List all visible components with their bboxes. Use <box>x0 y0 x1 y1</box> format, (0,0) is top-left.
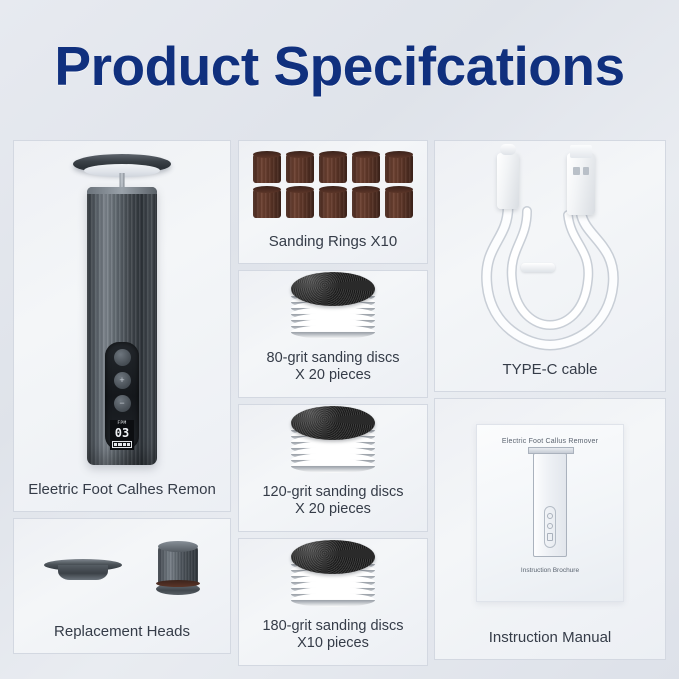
column-middle: Sanding Rings X10 80-grit sanding discs … <box>238 140 434 672</box>
sanding-ring-icon <box>385 189 413 218</box>
sanding-rings-group <box>239 154 427 218</box>
panel-replacement-heads-caption: Replacement Heads <box>14 621 230 653</box>
panel-device[interactable]: + − FPM 03 Eleetric Foot Calhes Remon <box>13 140 231 512</box>
panel-manual[interactable]: Electric Foot Callus Remover Instruction… <box>434 398 666 660</box>
panel-discs-120-caption: 120-grit sanding discs X 20 pieces <box>239 482 427 531</box>
decrease-button-icon: − <box>114 395 131 412</box>
sanding-disc-stack-icon <box>285 272 381 346</box>
panel-replacement-heads[interactable]: Replacement Heads <box>13 518 231 654</box>
device-body: + − FPM 03 <box>87 187 157 465</box>
battery-indicator-icon <box>112 441 132 448</box>
usb-a-connector-icon <box>567 153 595 215</box>
panel-device-caption: Eleetric Foot Calhes Remon <box>14 479 230 511</box>
power-button-icon <box>114 349 131 366</box>
booklet-cover-footer: Instruction Brochure <box>521 567 579 574</box>
cable-illustration <box>435 141 665 359</box>
booklet-control-panel-icon <box>544 506 556 548</box>
sanding-rings-illustration <box>239 141 427 231</box>
sanding-ring-icon <box>286 189 314 218</box>
panel-cable[interactable]: TYPE-C cable <box>434 140 666 392</box>
usb-c-connector-icon <box>497 153 519 209</box>
replacement-heads-illustration <box>14 519 230 621</box>
sanding-ring-icon <box>286 154 314 183</box>
panel-cable-caption: TYPE-C cable <box>435 359 665 391</box>
foot-callus-remover-device: + − FPM 03 <box>47 150 197 470</box>
specs-grid: + − FPM 03 Eleetric Foot Calhes Remon <box>13 140 666 660</box>
sanding-disc-stack-icon <box>285 406 381 480</box>
sanding-ring-icon <box>385 154 413 183</box>
panel-manual-caption: Instruction Manual <box>435 627 665 659</box>
column-left: + − FPM 03 Eleetric Foot Calhes Remon <box>13 140 238 672</box>
discs-120-line2: X 20 pieces <box>243 501 423 519</box>
sanding-ring-icon <box>253 154 281 183</box>
sanding-disc-stack-icon <box>285 540 381 614</box>
panel-discs-180[interactable]: 180-grit sanding discs X10 pieces <box>238 538 428 666</box>
panel-discs-180-caption: 180-grit sanding discs X10 pieces <box>239 616 427 665</box>
device-lcd-screen: FPM 03 <box>110 420 134 450</box>
panel-discs-120[interactable]: 120-grit sanding discs X 20 pieces <box>238 404 428 532</box>
header: Product Specifcations <box>0 0 679 132</box>
discs-180-illustration <box>239 539 427 616</box>
instruction-booklet-icon: Electric Foot Callus Remover Instruction… <box>476 424 624 602</box>
cable-tie-icon <box>521 263 555 272</box>
sanding-ring-icon <box>319 154 347 183</box>
sanding-ring-icon <box>319 189 347 218</box>
manual-illustration: Electric Foot Callus Remover Instruction… <box>435 399 665 627</box>
lcd-label: FPM <box>117 421 126 426</box>
discs-80-illustration <box>239 271 427 348</box>
panel-sanding-rings[interactable]: Sanding Rings X10 <box>238 140 428 264</box>
sanding-ring-icon <box>352 189 380 218</box>
device-illustration: + − FPM 03 <box>14 141 230 479</box>
discs-80-line2: X 20 pieces <box>243 367 423 385</box>
increase-button-icon: + <box>114 372 131 389</box>
discs-80-line1: 80-grit sanding discs <box>243 350 423 368</box>
flat-disc-head-icon <box>44 557 122 583</box>
device-control-panel: + − FPM 03 <box>105 342 139 450</box>
panel-discs-80[interactable]: 80-grit sanding discs X 20 pieces <box>238 270 428 398</box>
column-right: TYPE-C cable Electric Foot Callus Remove… <box>434 140 666 672</box>
usb-a-pins-icon <box>573 167 589 175</box>
cable-path <box>465 145 635 355</box>
booklet-device-drawing-icon <box>533 453 567 557</box>
panel-discs-80-caption: 80-grit sanding discs X 20 pieces <box>239 348 427 397</box>
sanding-ring-icon <box>352 154 380 183</box>
booklet-cover-title: Electric Foot Callus Remover <box>502 438 598 445</box>
roller-head-icon <box>156 543 200 597</box>
lcd-value: 03 <box>115 427 129 439</box>
discs-180-line2: X10 pieces <box>243 635 423 653</box>
panel-sanding-rings-caption: Sanding Rings X10 <box>239 231 427 263</box>
discs-180-line1: 180-grit sanding discs <box>243 618 423 636</box>
discs-120-illustration <box>239 405 427 482</box>
sanding-ring-icon <box>253 189 281 218</box>
page-title: Product Specifcations <box>54 34 624 98</box>
device-top-cap <box>87 187 157 194</box>
type-c-cable-icon <box>465 145 635 355</box>
discs-120-line1: 120-grit sanding discs <box>243 484 423 502</box>
